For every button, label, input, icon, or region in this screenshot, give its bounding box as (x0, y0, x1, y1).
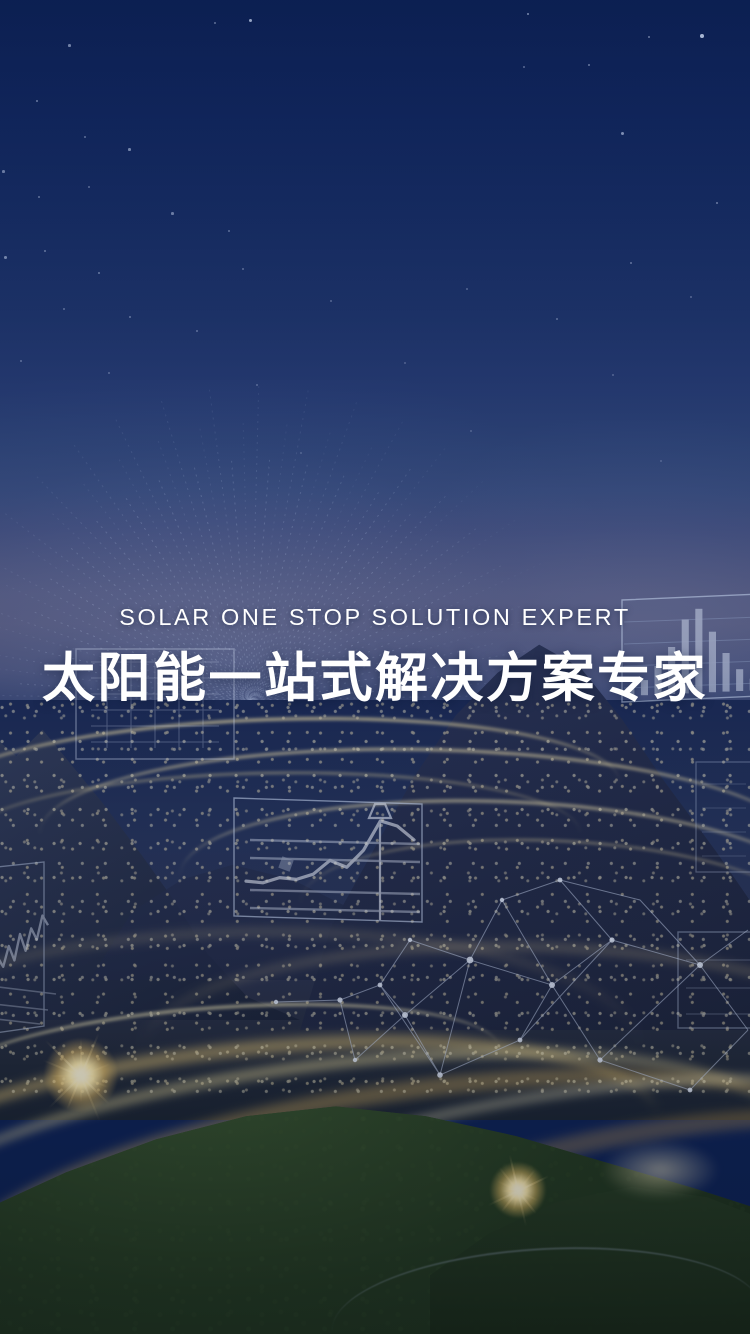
spark-chart-panel (0, 858, 166, 1058)
promo-banner: SOLAR ONE STOP SOLUTION EXPERT 太阳能一站式解决方… (0, 0, 750, 1334)
eyebrow-text: SOLAR ONE STOP SOLUTION EXPERT (0, 600, 750, 634)
light-glow-blob (600, 1140, 720, 1200)
tower-panel (694, 760, 750, 880)
line-chart-panel (228, 796, 424, 924)
page-title: 太阳能一站式解决方案专家 (0, 646, 750, 712)
edge-chart-panel (676, 930, 750, 1050)
headline-block: SOLAR ONE STOP SOLUTION EXPERT 太阳能一站式解决方… (0, 600, 750, 712)
